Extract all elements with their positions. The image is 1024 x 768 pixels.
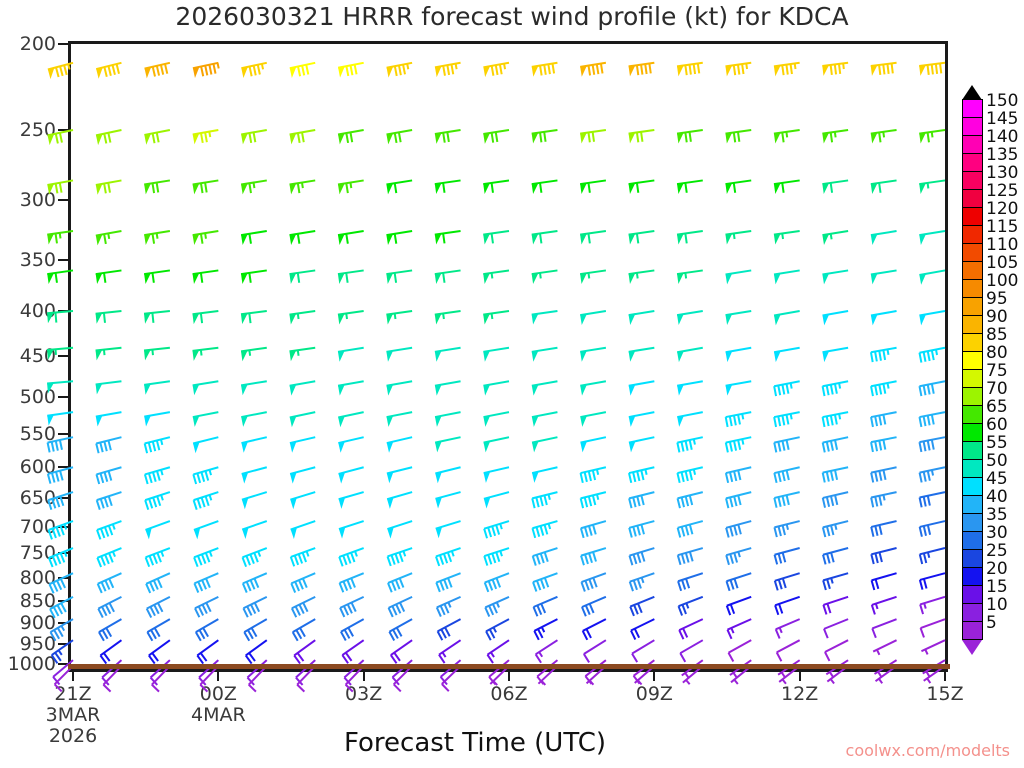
x-tick-mark <box>508 672 510 681</box>
y-tick-mark <box>58 355 68 357</box>
x-tick-mark <box>217 672 219 681</box>
y-tick-label: 600 <box>0 456 56 478</box>
x-tick-mark <box>653 672 655 681</box>
x-tick-sublabel: 3MAR <box>46 704 101 726</box>
y-tick-label: 450 <box>0 345 56 367</box>
y-tick-mark <box>58 663 68 665</box>
colorbar-swatch <box>962 261 983 280</box>
colorbar-swatch <box>962 189 983 208</box>
page-title: 2026030321 HRRR forecast wind profile (k… <box>0 2 1024 31</box>
y-tick-label: 200 <box>0 33 56 55</box>
y-tick-mark <box>58 643 68 645</box>
colorbar-swatch <box>962 405 983 424</box>
colorbar-tick-label: 10 <box>986 595 1008 615</box>
colorbar-swatch <box>962 441 983 460</box>
colorbar-swatch <box>962 135 983 154</box>
colorbar-swatch <box>962 477 983 496</box>
x-tick-label: 06Z <box>490 683 527 705</box>
colorbar-swatch <box>962 585 983 604</box>
colorbar-tick-label: 60 <box>986 415 1008 435</box>
y-tick-label: 350 <box>0 249 56 271</box>
colorbar-tick-label: 80 <box>986 343 1008 363</box>
colorbar-tick-label: 65 <box>986 397 1008 417</box>
colorbar-tick-label: 85 <box>986 325 1008 345</box>
y-tick-mark <box>58 433 68 435</box>
x-tick-label: 03Z <box>345 683 382 705</box>
y-tick-label: 300 <box>0 189 56 211</box>
y-tick-label: 950 <box>0 633 56 655</box>
colorbar-swatch <box>962 171 983 190</box>
colorbar-tick-label: 105 <box>986 253 1018 273</box>
colorbar-swatch <box>962 567 983 586</box>
colorbar-swatch <box>962 549 983 568</box>
y-tick-mark <box>58 396 68 398</box>
colorbar-swatch <box>962 621 983 640</box>
colorbar-tick-label: 135 <box>986 145 1018 165</box>
colorbar-tick-label: 45 <box>986 469 1008 489</box>
colorbar-tick-label: 110 <box>986 235 1018 255</box>
plot-frame <box>68 41 948 672</box>
y-tick-label: 650 <box>0 487 56 509</box>
y-tick-label: 750 <box>0 542 56 564</box>
y-tick-label: 250 <box>0 119 56 141</box>
y-tick-label: 500 <box>0 386 56 408</box>
y-tick-mark <box>58 259 68 261</box>
x-tick-label: 21Z <box>54 683 91 705</box>
colorbar-swatch <box>962 387 983 406</box>
colorbar-swatch <box>962 531 983 550</box>
y-tick-mark <box>58 199 68 201</box>
colorbar-tick-label: 15 <box>986 577 1008 597</box>
y-tick-label: 400 <box>0 300 56 322</box>
colorbar-tick-label: 90 <box>986 307 1008 327</box>
colorbar-swatch <box>962 603 983 622</box>
terrain-fill <box>68 664 950 669</box>
colorbar-swatch <box>962 513 983 532</box>
credit-text: coolwx.com/modelts <box>846 741 1010 760</box>
colorbar-swatch <box>962 333 983 352</box>
colorbar-swatch <box>962 297 983 316</box>
colorbar-tick-label: 55 <box>986 433 1008 453</box>
y-tick-mark <box>58 310 68 312</box>
colorbar-tick-label: 120 <box>986 199 1018 219</box>
colorbar-tick-label: 75 <box>986 361 1008 381</box>
y-tick-label: 550 <box>0 423 56 445</box>
colorbar-max-arrow <box>962 85 982 100</box>
colorbar-swatch <box>962 459 983 478</box>
y-tick-label: 700 <box>0 516 56 538</box>
x-tick-label: 12Z <box>781 683 818 705</box>
colorbar-swatch <box>962 153 983 172</box>
colorbar-tick-label: 20 <box>986 559 1008 579</box>
colorbar-swatch <box>962 279 983 298</box>
y-tick-mark <box>58 43 68 45</box>
colorbar-tick-label: 50 <box>986 451 1008 471</box>
colorbar-swatch <box>962 351 983 370</box>
x-tick-mark <box>944 672 946 681</box>
x-axis-title: Forecast Time (UTC) <box>0 728 950 758</box>
colorbar-tick-label: 150 <box>986 91 1018 111</box>
colorbar-tick-label: 145 <box>986 109 1018 129</box>
y-tick-mark <box>58 526 68 528</box>
wind-profile-chart: 2026030321 HRRR forecast wind profile (k… <box>0 0 1024 768</box>
colorbar-tick-label: 40 <box>986 487 1008 507</box>
y-tick-mark <box>58 552 68 554</box>
colorbar-tick-label: 25 <box>986 541 1008 561</box>
y-tick-label: 1000 <box>0 653 56 675</box>
y-tick-label: 800 <box>0 567 56 589</box>
colorbar-tick-label: 130 <box>986 163 1018 183</box>
y-tick-mark <box>58 622 68 624</box>
colorbar-tick-label: 125 <box>986 181 1018 201</box>
colorbar-swatch <box>962 423 983 442</box>
colorbar-swatch <box>962 495 983 514</box>
x-tick-mark <box>799 672 801 681</box>
colorbar-tick-label: 30 <box>986 523 1008 543</box>
colorbar-min-arrow <box>962 640 982 655</box>
y-tick-mark <box>58 129 68 131</box>
colorbar-swatch <box>962 315 983 334</box>
colorbar-swatch <box>962 243 983 262</box>
colorbar-tick-label: 95 <box>986 289 1008 309</box>
y-tick-label: 850 <box>0 590 56 612</box>
colorbar-swatch <box>962 99 983 118</box>
x-tick-label: 09Z <box>636 683 673 705</box>
colorbar-tick-label: 100 <box>986 271 1018 291</box>
y-tick-mark <box>58 466 68 468</box>
x-tick-sublabel: 4MAR <box>191 704 246 726</box>
y-tick-label: 900 <box>0 612 56 634</box>
y-tick-mark <box>58 577 68 579</box>
y-tick-mark <box>58 600 68 602</box>
x-tick-label: 00Z <box>200 683 237 705</box>
colorbar-tick-label: 70 <box>986 379 1008 399</box>
y-tick-mark <box>58 497 68 499</box>
colorbar-tick-label: 35 <box>986 505 1008 525</box>
colorbar-swatch <box>962 369 983 388</box>
x-tick-label: 15Z <box>926 683 963 705</box>
x-tick-mark <box>363 672 365 681</box>
x-tick-mark <box>72 672 74 681</box>
colorbar-tick-label: 140 <box>986 127 1018 147</box>
colorbar-swatch <box>962 207 983 226</box>
colorbar-swatch <box>962 225 983 244</box>
colorbar-tick-label: 5 <box>986 613 997 633</box>
colorbar-tick-label: 115 <box>986 217 1018 237</box>
colorbar-swatch <box>962 117 983 136</box>
